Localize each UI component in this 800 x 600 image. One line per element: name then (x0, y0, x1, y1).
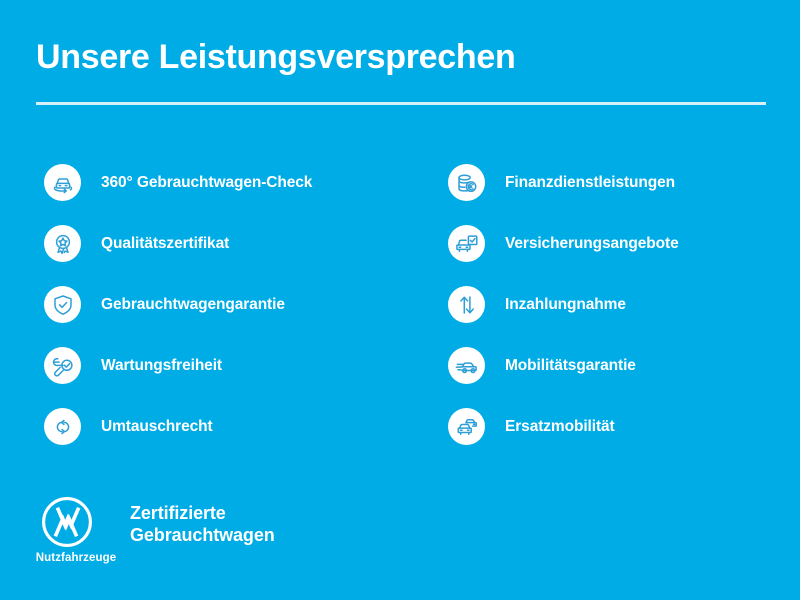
header-divider (36, 102, 766, 105)
list-item: Finanzdienstleistungen (448, 152, 788, 213)
coins-euro-icon (448, 164, 485, 201)
list-item: Gebrauchtwagengarantie (44, 274, 424, 335)
benefit-label: Gebrauchtwagengarantie (101, 296, 285, 314)
list-item: Wartungsfreiheit (44, 335, 424, 396)
car-motion-icon (448, 347, 485, 384)
benefit-label: Qualitätszertifikat (101, 235, 229, 253)
benefit-label: Finanzdienstleistungen (505, 174, 675, 192)
page-title: Unsere Leistungsversprechen (36, 36, 776, 78)
list-item: Qualitätszertifikat (44, 213, 424, 274)
list-item: Umtauschrecht (44, 396, 424, 457)
brand-claim-line2: Gebrauchtwagen (130, 524, 275, 546)
benefits-column-left: 360° Gebrauchtwagen-Check Qualitätszerti… (44, 152, 424, 457)
car-checkbox-icon (448, 225, 485, 262)
list-item: 360° Gebrauchtwagen-Check (44, 152, 424, 213)
benefit-label: Wartungsfreiheit (101, 357, 222, 375)
benefit-label: Umtauschrecht (101, 418, 213, 436)
brand-claim-line1: Zertifizierte (130, 502, 275, 524)
wrench-check-icon (44, 347, 81, 384)
car-360-check-icon (44, 164, 81, 201)
list-item: Versicherungsangebote (448, 213, 788, 274)
brand-sub-label: Nutzfahrzeuge (26, 552, 126, 564)
award-rosette-icon (44, 225, 81, 262)
brand-claim: Zertifizierte Gebrauchtwagen (130, 502, 275, 546)
benefit-label: Inzahlungnahme (505, 296, 626, 314)
list-item: Inzahlungnahme (448, 274, 788, 335)
slide-root: Unsere Leistungsversprechen 3 (0, 0, 800, 600)
list-item: Mobilitätsgarantie (448, 335, 788, 396)
arrows-up-down-icon (448, 286, 485, 323)
benefit-label: 360° Gebrauchtwagen-Check (101, 174, 312, 192)
exchange-arrows-icon (44, 408, 81, 445)
shield-check-icon (44, 286, 81, 323)
two-cars-icon (448, 408, 485, 445)
benefit-label: Versicherungsangebote (505, 235, 679, 253)
benefit-label: Ersatzmobilität (505, 418, 615, 436)
list-item: Ersatzmobilität (448, 396, 788, 457)
brand-block: Nutzfahrzeuge Zertifizierte Gebrauchtwag… (26, 494, 426, 584)
header: Unsere Leistungsversprechen (36, 36, 776, 78)
benefits-column-right: Finanzdienstleistungen Versicheru (448, 152, 788, 457)
volkswagen-logo-icon (41, 496, 93, 548)
benefit-label: Mobilitätsgarantie (505, 357, 636, 375)
